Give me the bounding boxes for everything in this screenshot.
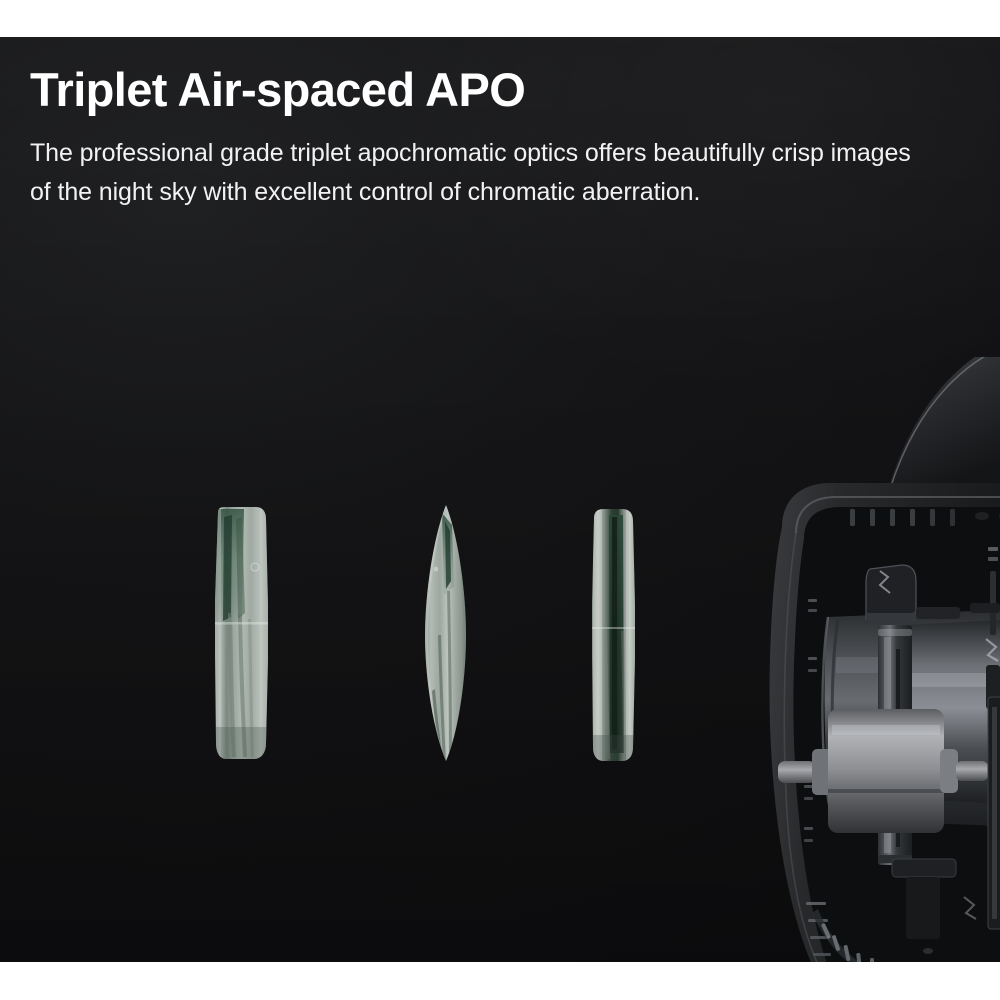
- product-feature-slide: Triplet Air-spaced APO The professional …: [0, 0, 1000, 1000]
- lens1-left-edge-highlight: [215, 507, 221, 759]
- lens1-core-streak: [223, 515, 232, 621]
- headline-block: Triplet Air-spaced APO The professional …: [30, 65, 930, 212]
- lens3-core-streak: [612, 517, 617, 749]
- mounting-plate-highlight: [992, 707, 997, 919]
- rear-element-lens: [578, 499, 650, 779]
- motor-seam: [828, 789, 944, 793]
- motor-specular: [832, 725, 940, 735]
- lens3-bottom-shade: [592, 735, 635, 761]
- motor-rear-shaft: [956, 761, 988, 781]
- clamp-bracket: [866, 565, 916, 619]
- motor-output-shaft: [778, 761, 816, 783]
- telescope-optical-tube-assembly: [720, 357, 1000, 962]
- focuser-rail-top-cap: [878, 629, 912, 636]
- page-title: Triplet Air-spaced APO: [30, 65, 930, 114]
- page-description: The professional grade triplet apochroma…: [30, 134, 915, 212]
- lens3-right-edge-highlight: [626, 509, 635, 761]
- lens1-equator-seam: [215, 622, 268, 625]
- motor-rear-collar: [940, 749, 958, 793]
- lens3-left-edge-highlight: [593, 509, 602, 761]
- dome-top-cover: [888, 357, 1000, 489]
- lens1-right-edge-highlight: [260, 507, 268, 759]
- lens3-equator-seam: [592, 627, 635, 629]
- clamp-bracket-base: [866, 613, 916, 621]
- dark-content-panel: Triplet Air-spaced APO The professional …: [0, 37, 1000, 962]
- front-crown-element-lens: [198, 495, 288, 780]
- lens1-bottom-shade: [215, 727, 268, 759]
- lens2-bubble: [434, 567, 439, 572]
- middle-flint-element-lens: [408, 495, 484, 780]
